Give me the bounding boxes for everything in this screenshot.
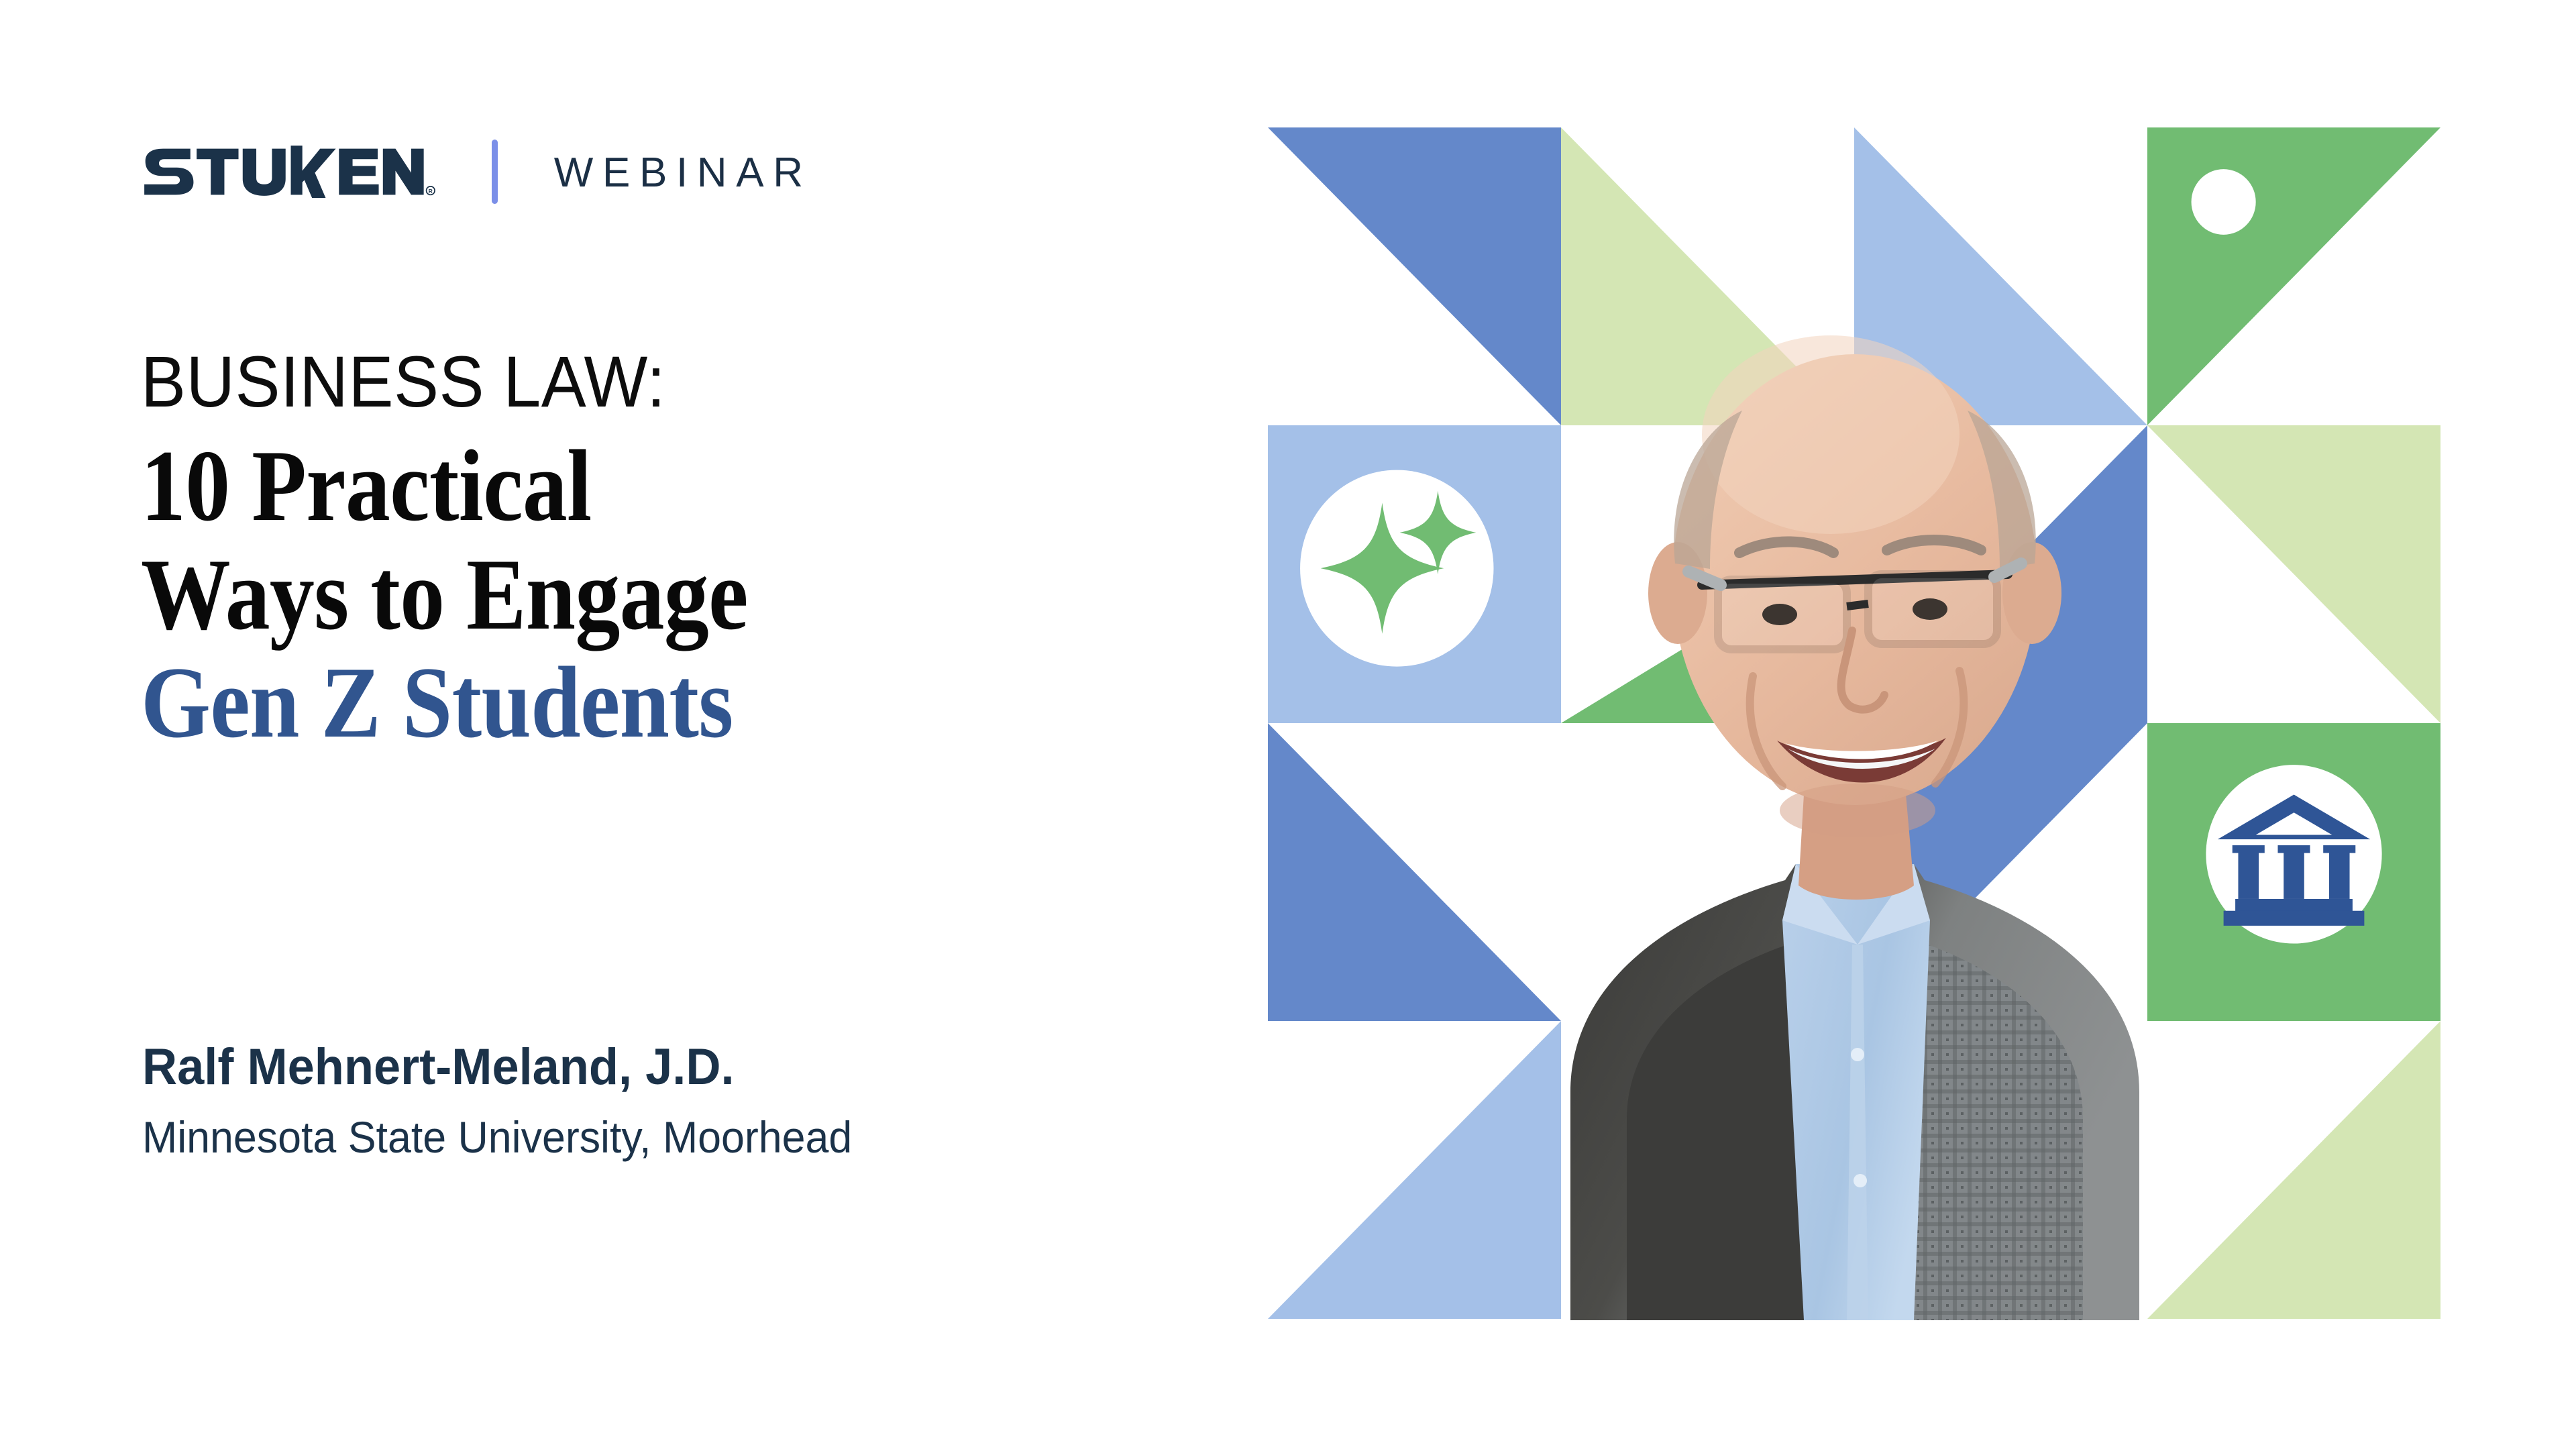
- left-content-column: R WEBINAR BUSINESS LAW: 10 Practical Way…: [0, 0, 1261, 1449]
- tile-r1c2: [1561, 127, 1854, 425]
- stukent-logo: R: [142, 146, 435, 198]
- brand-bar: R WEBINAR: [142, 131, 812, 212]
- tile-r4c1: [1268, 1021, 1561, 1319]
- headline-line-2: Ways to Engage: [141, 541, 1085, 649]
- decorative-graphic-panel: [1268, 127, 2440, 1319]
- tile-r2c1: [1268, 425, 1561, 723]
- circle-dot-icon: [2192, 169, 2256, 235]
- eyebrow-title: BUSINESS LAW:: [141, 343, 1139, 420]
- courthouse-icon: [2206, 765, 2381, 943]
- tile-r1c4: [2147, 127, 2440, 425]
- tile-r1c3: [1854, 127, 2147, 425]
- headline-block: BUSINESS LAW: 10 Practical Ways to Engag…: [141, 343, 1214, 757]
- sparkle-icon: [1300, 470, 1493, 667]
- registered-trademark-icon: R: [427, 186, 435, 195]
- tile-grid: [1268, 127, 2440, 1319]
- tile-r4c2: [1561, 1021, 1854, 1319]
- headline-line-3: Gen Z Students: [141, 649, 1085, 757]
- speaker-affiliation: Minnesota State University, Moorhead: [142, 1113, 1162, 1163]
- tile-r2c4: [2147, 425, 2440, 723]
- webinar-label: WEBINAR: [554, 150, 812, 194]
- brand-divider-icon: [492, 140, 498, 204]
- tile-r2c2: [1561, 425, 1854, 723]
- svg-text:R: R: [429, 188, 433, 195]
- tile-r4c4: [2147, 1021, 2440, 1319]
- tile-r3c2: [1561, 723, 1854, 1021]
- tile-r3c1: [1268, 723, 1561, 1021]
- tile-r3c3: [1854, 723, 2147, 1021]
- tile-r3c4: [2147, 723, 2440, 1021]
- headline-line-1: 10 Practical: [141, 432, 1085, 540]
- speaker-name: Ralf Mehnert-Meland, J.D.: [142, 1038, 1162, 1095]
- tile-r4c3: [1854, 1021, 2147, 1319]
- speaker-block: Ralf Mehnert-Meland, J.D. Minnesota Stat…: [142, 1038, 1216, 1163]
- tile-r2c3: [1854, 425, 2147, 723]
- tile-r1c1: [1268, 127, 1561, 425]
